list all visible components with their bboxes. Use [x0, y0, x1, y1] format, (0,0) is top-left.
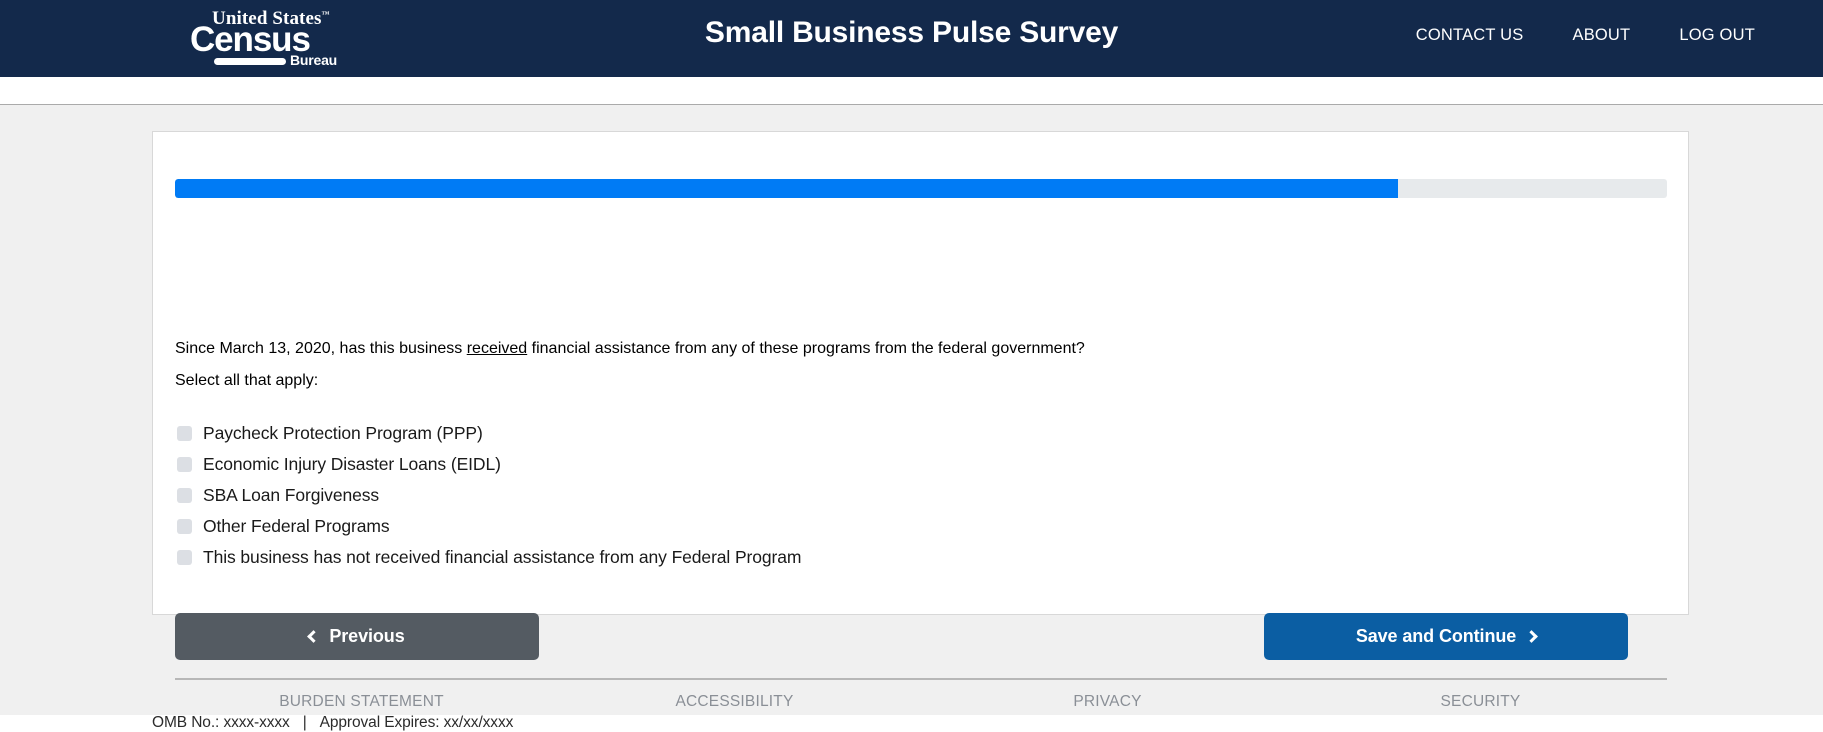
card-footer-links: BURDEN STATEMENT ACCESSIBILITY PRIVACY S…	[175, 678, 1667, 711]
previous-button[interactable]: Previous	[175, 613, 539, 660]
omb-number: OMB No.: xxxx-xxxx	[152, 714, 290, 731]
omb-info: OMB No.: xxxx-xxxx|Approval Expires: xx/…	[152, 714, 513, 732]
header-nav: CONTACT US ABOUT LOG OUT	[1416, 26, 1755, 45]
logo-underline-bar	[214, 58, 286, 65]
save-and-continue-button[interactable]: Save and Continue	[1264, 613, 1628, 660]
option-row[interactable]: Paycheck Protection Program (PPP)	[175, 418, 1575, 449]
checkbox-other-federal-programs[interactable]	[177, 519, 192, 534]
question-text-after: financial assistance from any of these p…	[527, 340, 1085, 357]
omb-separator: |	[290, 714, 320, 732]
option-row[interactable]: SBA Loan Forgiveness	[175, 480, 1575, 511]
checkbox-group: Paycheck Protection Program (PPP) Econom…	[175, 418, 1575, 573]
nav-log-out[interactable]: LOG OUT	[1679, 26, 1755, 45]
checkbox-sba-loan-forgiveness-label[interactable]: SBA Loan Forgiveness	[203, 485, 379, 506]
logo-bureau-label: Bureau	[290, 53, 337, 67]
header-sub-strip	[0, 77, 1823, 105]
question-text-before: Since March 13, 2020, has this business	[175, 340, 467, 357]
checkbox-none[interactable]	[177, 550, 192, 565]
question-instruction: Select all that apply:	[175, 372, 318, 390]
survey-progress-fill	[175, 179, 1398, 198]
checkbox-none-label[interactable]: This business has not received financial…	[203, 547, 801, 568]
option-row[interactable]: Economic Injury Disaster Loans (EIDL)	[175, 449, 1575, 480]
checkbox-ppp-label[interactable]: Paycheck Protection Program (PPP)	[203, 423, 483, 444]
option-row[interactable]: This business has not received financial…	[175, 542, 1575, 573]
chevron-left-icon	[308, 630, 321, 643]
footer-link-privacy[interactable]: PRIVACY	[921, 693, 1294, 711]
omb-approval-expires: Approval Expires: xx/xx/xxxx	[320, 714, 514, 731]
footer-link-burden-statement[interactable]: BURDEN STATEMENT	[175, 693, 548, 711]
previous-button-label: Previous	[329, 626, 404, 647]
nav-contact-us[interactable]: CONTACT US	[1416, 26, 1524, 45]
nav-about[interactable]: ABOUT	[1572, 26, 1630, 45]
footer-link-security[interactable]: SECURITY	[1294, 693, 1667, 711]
survey-card: Since March 13, 2020, has this business …	[152, 131, 1689, 615]
site-header: United States™ Census Bureau Small Busin…	[0, 0, 1823, 77]
checkbox-eidl[interactable]	[177, 457, 192, 472]
footer-link-accessibility[interactable]: ACCESSIBILITY	[548, 693, 921, 711]
question-emphasis-received: received	[467, 340, 527, 357]
question-text: Since March 13, 2020, has this business …	[175, 340, 1085, 358]
chevron-right-icon	[1525, 630, 1538, 643]
option-row[interactable]: Other Federal Programs	[175, 511, 1575, 542]
survey-progress-bar	[175, 179, 1667, 198]
page-body: Since March 13, 2020, has this business …	[0, 105, 1823, 715]
save-and-continue-button-label: Save and Continue	[1356, 626, 1516, 647]
checkbox-other-federal-programs-label[interactable]: Other Federal Programs	[203, 516, 389, 537]
checkbox-eidl-label[interactable]: Economic Injury Disaster Loans (EIDL)	[203, 454, 501, 475]
checkbox-ppp[interactable]	[177, 426, 192, 441]
checkbox-sba-loan-forgiveness[interactable]	[177, 488, 192, 503]
